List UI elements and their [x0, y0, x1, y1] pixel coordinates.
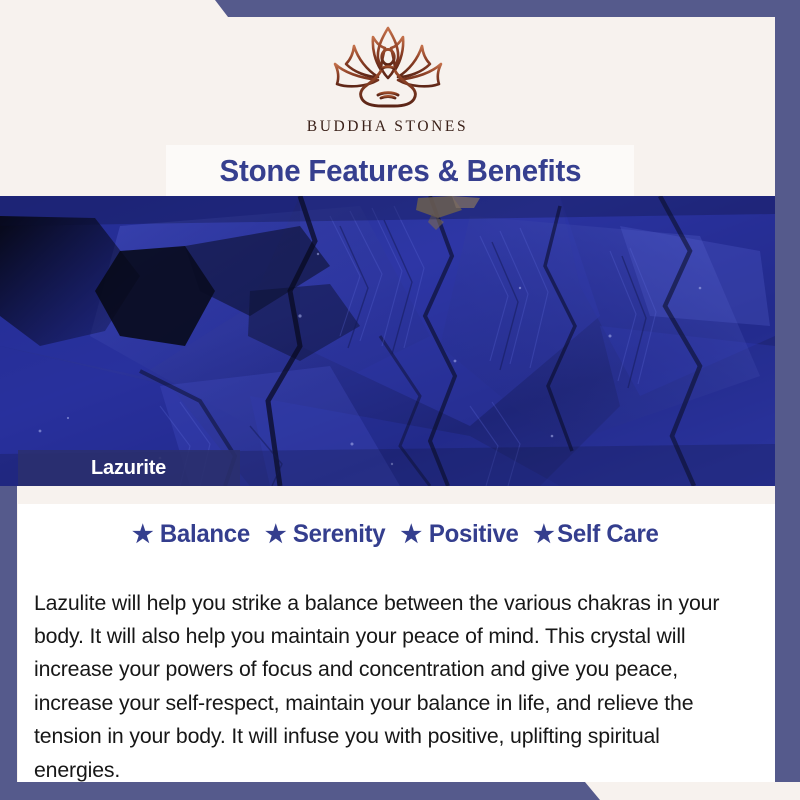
content-section: ★ Balance ★ Serenity ★ Positive ★ Self C…	[18, 486, 775, 782]
benefits-list: ★ Balance ★ Serenity ★ Positive ★ Self C…	[18, 520, 775, 549]
lotus-meditation-icon	[326, 22, 450, 114]
page-title-card: Stone Features & Benefits	[166, 145, 634, 196]
star-icon: ★	[132, 523, 153, 547]
benefit-self-care: ★ Self Care	[533, 520, 661, 549]
page-title: Stone Features & Benefits	[219, 153, 581, 189]
star-icon: ★	[400, 523, 421, 547]
star-icon: ★	[533, 523, 554, 547]
benefit-positive: ★ Positive	[400, 520, 520, 549]
stone-features-infographic: BUDDHA STONES Stone Features & Benefits	[0, 0, 800, 800]
decor-left-strip	[0, 486, 17, 800]
stone-name-badge: Lazurite	[18, 450, 240, 486]
stone-name-label: Lazurite	[18, 457, 166, 480]
benefit-label: Positive	[429, 520, 519, 549]
decor-right-strip	[775, 0, 800, 800]
stone-description: Lazulite will help you strike a balance …	[34, 586, 747, 786]
benefit-label: Serenity	[293, 520, 385, 549]
benefit-label: Self Care	[557, 520, 658, 549]
star-icon: ★	[265, 523, 286, 547]
benefit-serenity: ★ Serenity	[265, 520, 387, 549]
lazurite-stone-photo	[0, 196, 775, 486]
brand-logo: BUDDHA STONES	[0, 22, 775, 136]
content-top-tint	[18, 486, 775, 504]
benefit-balance: ★ Balance	[132, 520, 252, 549]
brand-wordmark: BUDDHA STONES	[307, 118, 468, 136]
benefit-label: Balance	[160, 520, 250, 549]
